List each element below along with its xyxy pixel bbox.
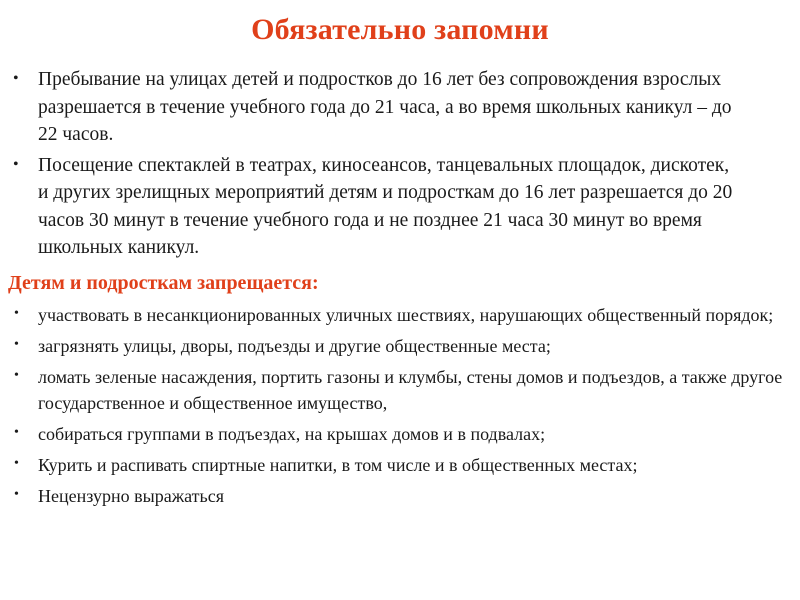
- list-item: загрязнять улицы, дворы, подъезды и друг…: [0, 333, 800, 359]
- list-item: Курить и распивать спиртные напитки, в т…: [0, 452, 800, 478]
- list-item: Посещение спектаклей в театрах, киносеан…: [0, 152, 758, 262]
- list-item: Нецензурно выражаться: [0, 483, 800, 509]
- page-title: Обязательно запомни: [0, 12, 800, 48]
- rules-allowed-list: Пребывание на улицах детей и подростков …: [0, 66, 758, 262]
- section-heading-prohibited: Детям и подросткам запрещается:: [8, 268, 800, 298]
- list-item: собираться группами в подъездах, на крыш…: [0, 421, 800, 447]
- slide-body: Пребывание на улицах детей и подростков …: [0, 66, 800, 514]
- slide-canvas: Обязательно запомни Пребывание на улицах…: [0, 0, 800, 600]
- list-item: участвовать в несанкционированных уличны…: [0, 302, 800, 328]
- rules-prohibited-list: участвовать в несанкционированных уличны…: [0, 302, 800, 509]
- list-item: ломать зеленые насаждения, портить газон…: [0, 364, 800, 416]
- list-item: Пребывание на улицах детей и подростков …: [0, 66, 758, 149]
